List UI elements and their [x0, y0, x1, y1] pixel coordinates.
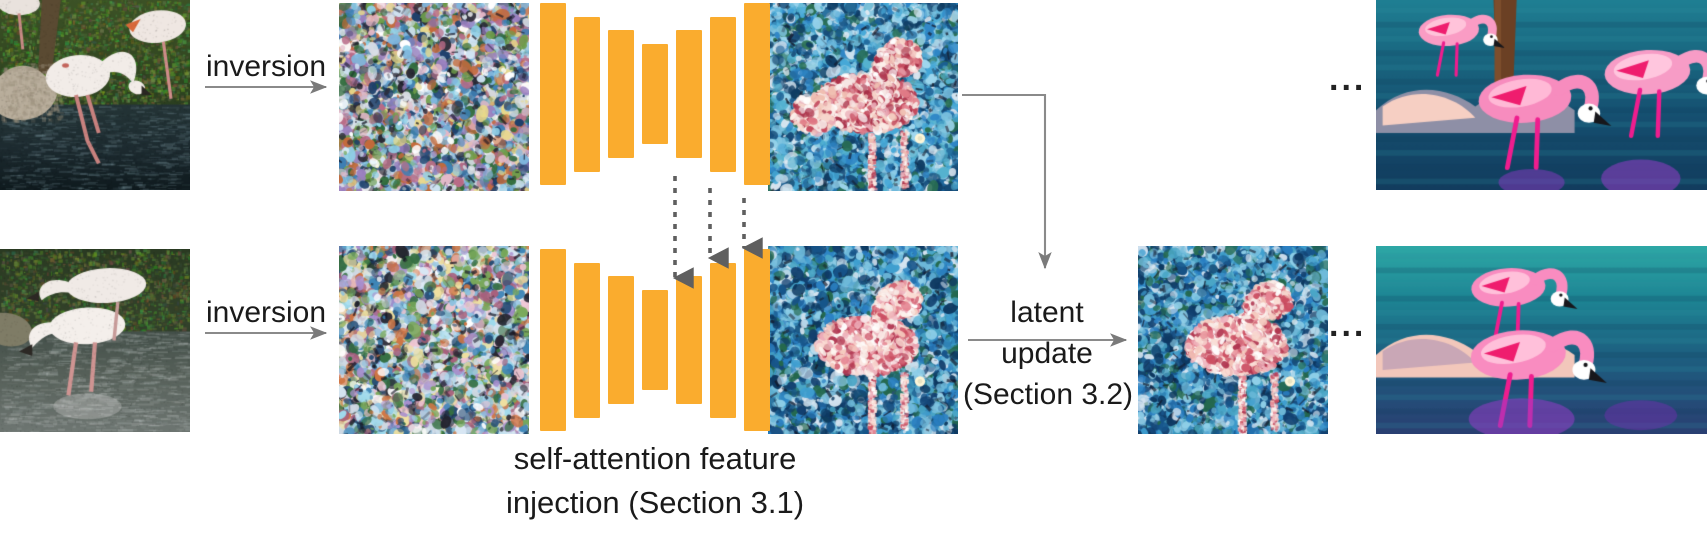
label-latent-update-line2: update [968, 337, 1126, 371]
label-latent-update-line3: (Section 3.2) [958, 378, 1138, 412]
denoised-latent-top [768, 3, 958, 191]
output-image-top [1376, 0, 1707, 190]
unet-bar-5 [676, 30, 702, 158]
denoised-latent-bottom [768, 246, 958, 434]
unet-bar-1 [540, 3, 566, 185]
arrow-feature-path [962, 95, 1045, 268]
unet-bar-3 [608, 276, 634, 404]
noisy-latent-bottom [339, 246, 529, 434]
label-latent-update-line1: latent [968, 296, 1126, 330]
ellipsis-bottom: ... [1329, 308, 1366, 342]
unet-bar-4 [642, 44, 668, 144]
noisy-latent-top [339, 3, 529, 191]
unet-bar-3 [608, 30, 634, 158]
unet-bar-5 [676, 276, 702, 404]
unet-bar-4 [642, 290, 668, 390]
label-inversion-bottom: inversion [205, 296, 327, 330]
source-image-bottom [0, 249, 190, 432]
unet-bar-6 [710, 263, 736, 418]
caption-line2: injection (Section 3.1) [0, 483, 1310, 523]
caption-line1: self-attention feature [0, 439, 1310, 479]
unet-bar-1 [540, 249, 566, 431]
unet-bar-7 [744, 3, 770, 185]
unet-bar-2 [574, 263, 600, 418]
unet-top [540, 0, 775, 195]
ellipsis-top: ... [1329, 62, 1366, 96]
output-image-bottom [1376, 246, 1707, 434]
source-image-top [0, 0, 190, 190]
unet-bar-7 [744, 249, 770, 431]
updated-latent-bottom [1138, 246, 1328, 434]
unet-bar-6 [710, 17, 736, 172]
label-inversion-top: inversion [205, 50, 327, 84]
figure-canvas: inversion inversion latent update (Secti… [0, 0, 1707, 557]
unet-bottom [540, 246, 775, 441]
unet-bar-2 [574, 17, 600, 172]
